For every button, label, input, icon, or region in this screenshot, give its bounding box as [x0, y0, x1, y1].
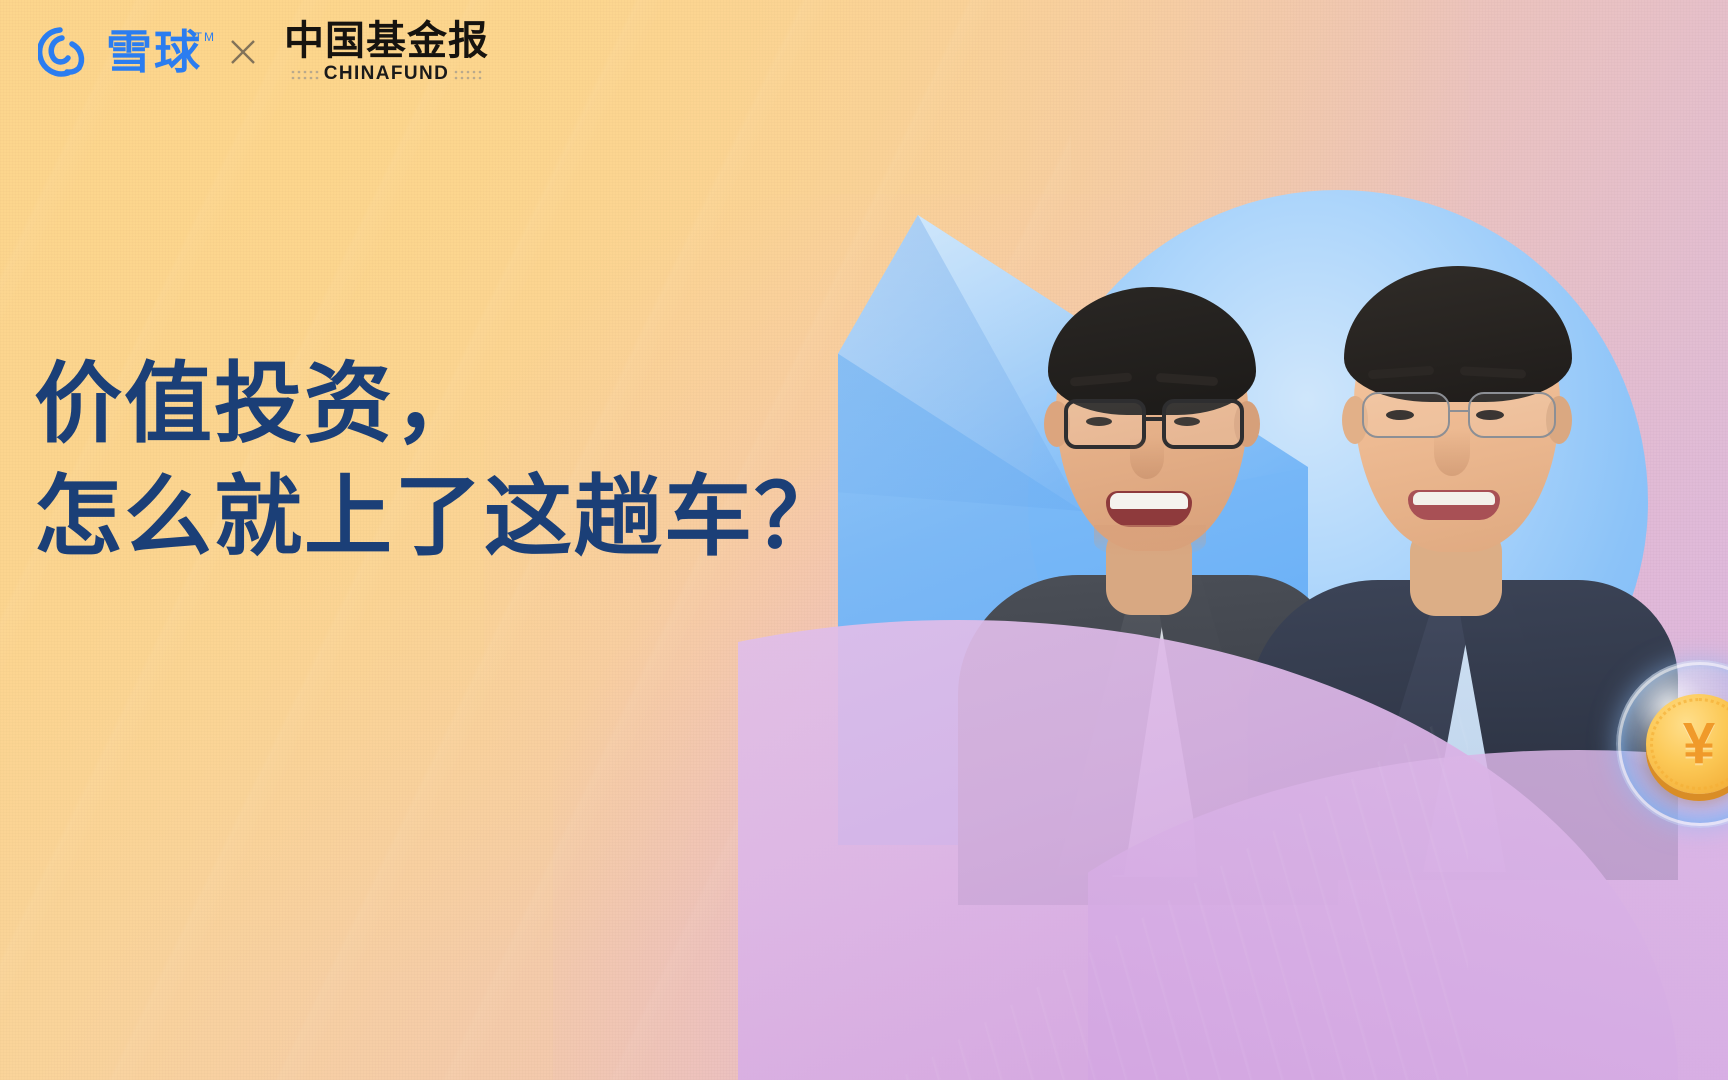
xueqiu-trademark: TM [195, 31, 216, 43]
chinafund-wordmark-en: CHINAFUND [324, 64, 450, 83]
chinafund-dots-left-icon [290, 68, 320, 80]
chinafund-dots-right-icon [453, 68, 483, 80]
chinafund-wordmark-en-row: CHINAFUND [290, 64, 484, 83]
right-speaker-nose [1434, 430, 1470, 476]
xueqiu-wordmark-text: 雪球 [106, 26, 202, 78]
left-speaker-teeth [1110, 493, 1188, 509]
chinafund-logo[interactable]: 中国基金报 CHINAFUND [284, 20, 489, 83]
right-speaker-hair [1344, 266, 1572, 402]
left-glasses-bridge [1146, 417, 1162, 421]
xueqiu-wordmark: 雪球 TM [106, 29, 202, 75]
chinafund-wordmark-cn: 中国基金报 [284, 20, 489, 62]
left-lens-right [1162, 399, 1244, 449]
xueqiu-logo[interactable]: 雪球 TM [38, 24, 202, 80]
yuan-coin-bubble: ¥ [1616, 660, 1728, 828]
right-speaker-mouth [1408, 490, 1500, 520]
headline-line-2: 怎么就上了这趟车？ [34, 461, 844, 574]
promo-banner: ¥ 雪球 TM 中国基金报 [0, 0, 1728, 1080]
left-speaker-nose [1130, 437, 1164, 479]
xueqiu-logo-mark [38, 24, 94, 80]
right-lens-right [1468, 392, 1556, 438]
left-speaker-chin-shadow [1094, 525, 1206, 559]
right-glasses-bridge [1450, 410, 1468, 412]
right-speaker-teeth [1413, 492, 1495, 505]
partner-logo-row: 雪球 TM 中国基金报 CH [38, 20, 489, 83]
headline-line-1: 价值投资， [34, 348, 844, 461]
yuan-symbol: ¥ [1683, 715, 1715, 773]
headline: 价值投资， 怎么就上了这趟车？ [34, 348, 844, 573]
cross-icon [228, 37, 258, 67]
left-speaker-mouth [1106, 491, 1192, 527]
artwork-composition: ¥ [808, 0, 1728, 1080]
